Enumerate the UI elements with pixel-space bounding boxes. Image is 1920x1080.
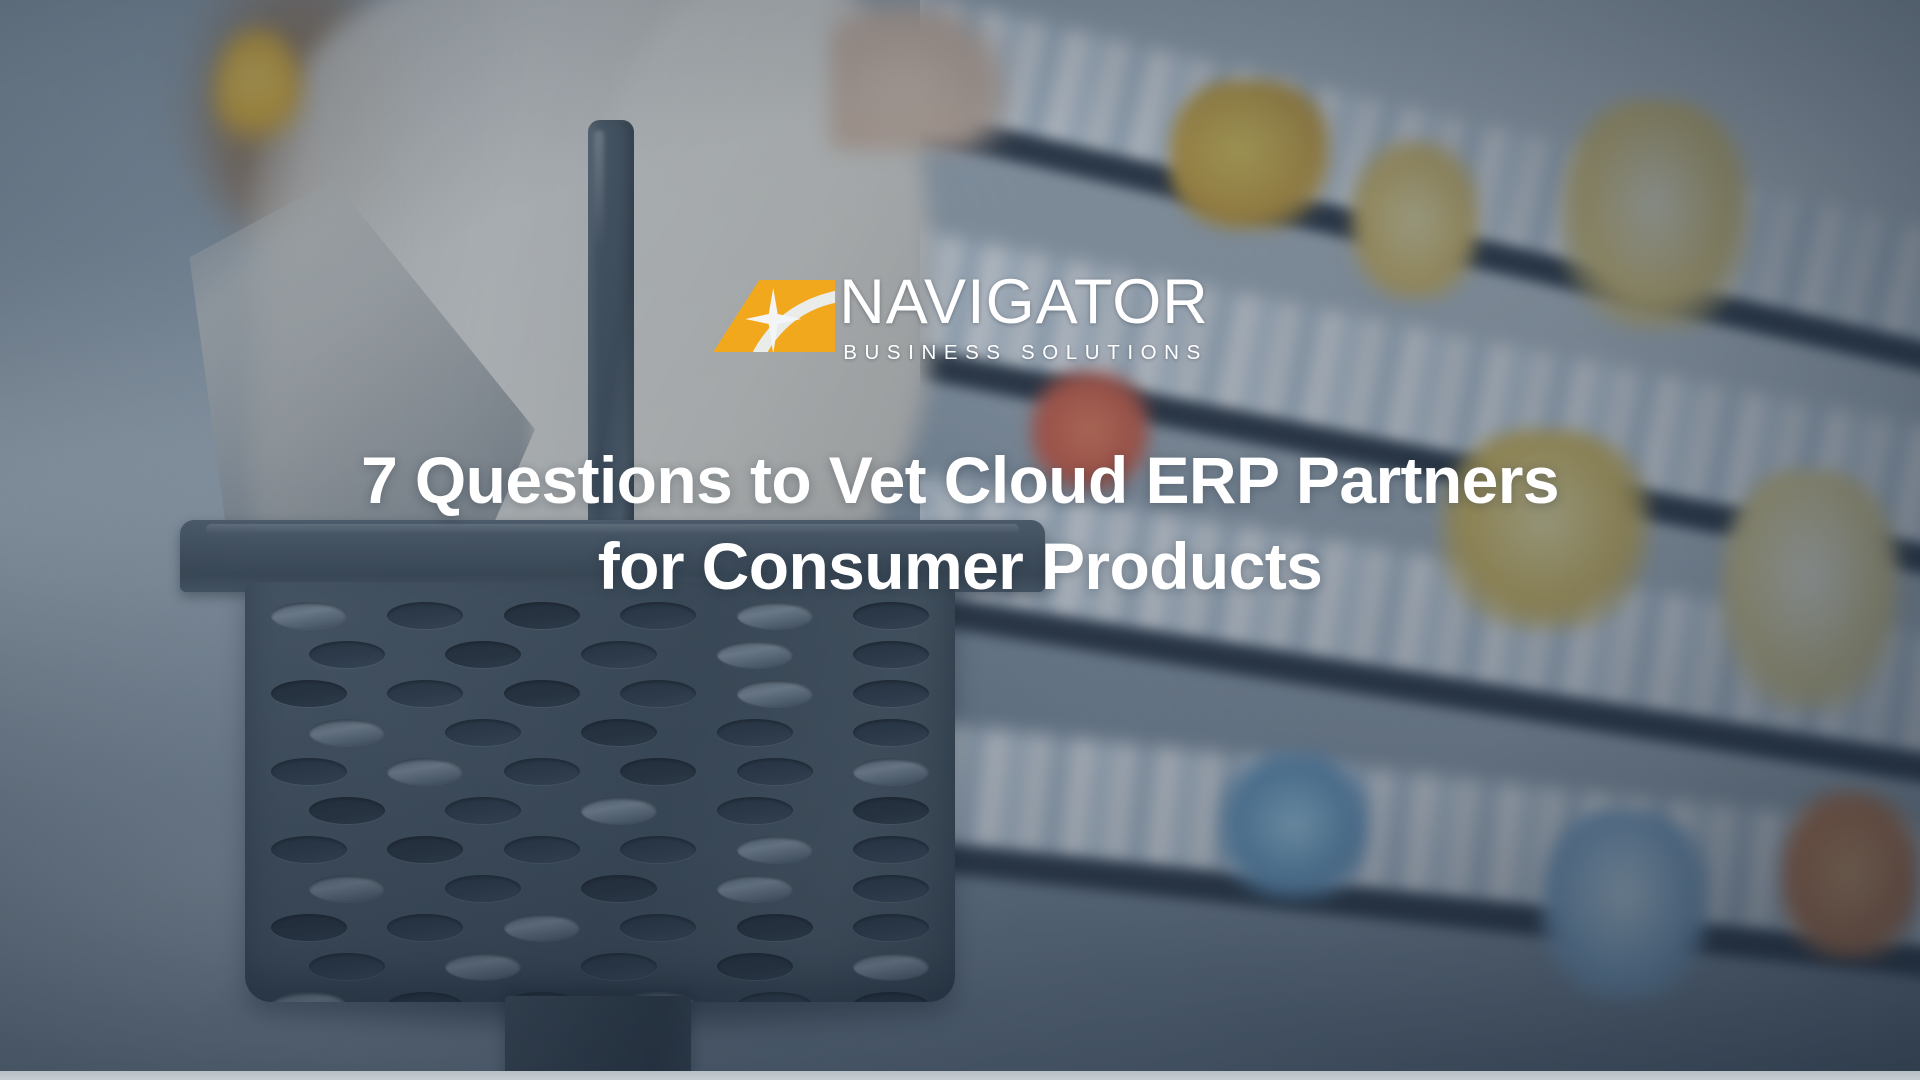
- brand-logo[interactable]: NAVIGATOR BUSINESS SOLUTIONS: [711, 272, 1209, 365]
- brand-tagline: BUSINESS SOLUTIONS: [839, 341, 1209, 365]
- navigator-logo-mark-icon: [711, 278, 837, 364]
- brand-wordmark: NAVIGATOR: [839, 272, 1209, 334]
- hero-banner: NAVIGATOR BUSINESS SOLUTIONS 7 Questions…: [0, 0, 1920, 1080]
- headline-line-2: for Consumer Products: [200, 524, 1720, 610]
- page-title: 7 Questions to Vet Cloud ERP Partners fo…: [200, 438, 1720, 610]
- headline-line-1: 7 Questions to Vet Cloud ERP Partners: [200, 438, 1720, 524]
- hero-content: NAVIGATOR BUSINESS SOLUTIONS 7 Questions…: [0, 0, 1920, 1080]
- brand-wordmark-group: NAVIGATOR BUSINESS SOLUTIONS: [839, 272, 1209, 365]
- bottom-divider: [0, 1071, 1920, 1080]
